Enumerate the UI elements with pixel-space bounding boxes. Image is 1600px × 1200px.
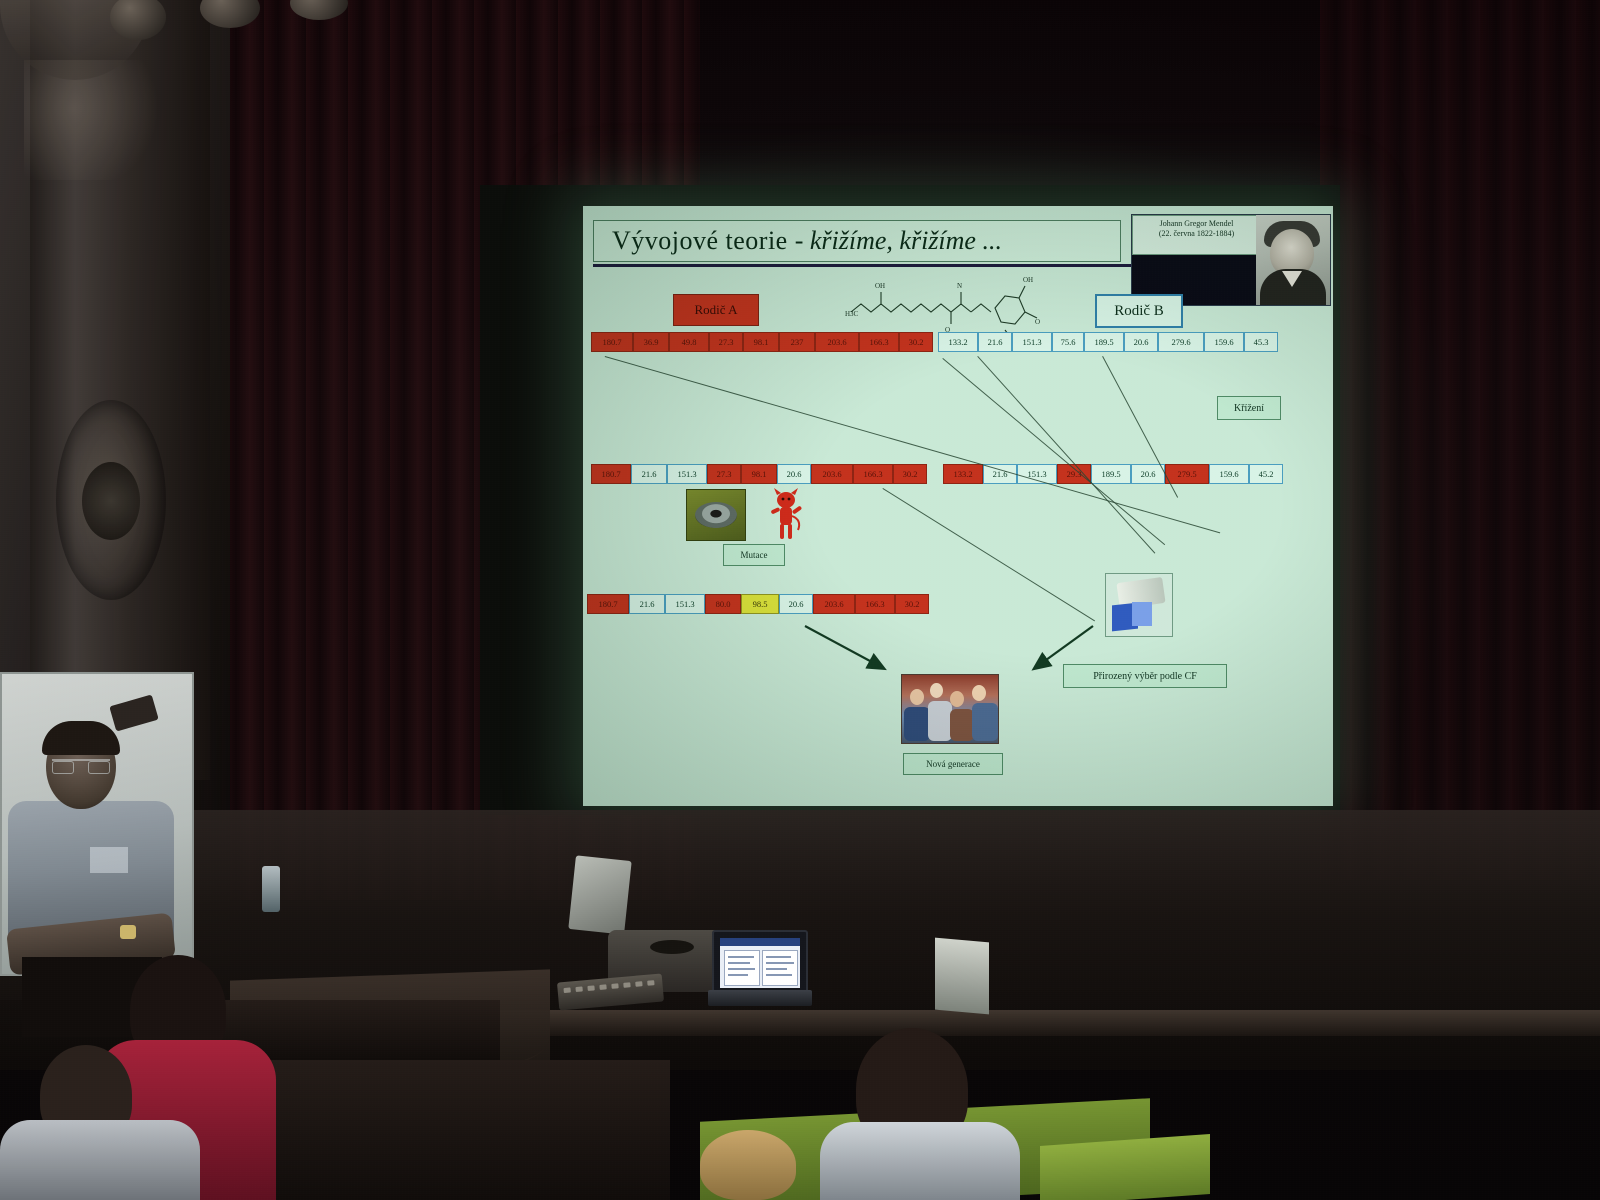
audience-head-blonde [700,1130,796,1200]
chromosome-cell: 189.5 [1091,464,1131,484]
svg-text:N: N [957,282,962,290]
mendel-photo [1256,215,1330,305]
chromosome-cell: 20.6 [779,594,813,614]
chromosome-cell: 151.3 [665,594,705,614]
equipment-crate [935,938,989,1015]
chromosome-cell: 20.6 [777,464,811,484]
water-bottle [262,866,280,912]
label-natural-selection: Přirozený výběr podle CF [1063,664,1227,688]
presenter-glasses [52,759,110,773]
chromosome-row-mutated: 180.721.6151.380.098.520.6203.6166.330.2 [587,594,929,614]
slide-title-italic: křižíme, křižíme ... [810,226,1002,256]
chromosome-cell: 237 [779,332,815,352]
crossing-line-2 [942,358,1165,545]
chromosome-cell: 166.3 [859,332,899,352]
chromosome-cell: 133.2 [943,464,983,484]
label-new-generation: Nová generace [903,753,1003,775]
chromosome-cell: 80.0 [705,594,741,614]
family-body-4 [972,703,998,741]
chromosome-cell: 36.9 [633,332,669,352]
mendel-dates: (22. června 1822-1884) [1138,229,1255,239]
svg-text:H3C: H3C [845,310,859,318]
wall-medallion-ornament [56,400,166,600]
chromosome-cell: 180.7 [591,464,631,484]
chromosome-cell: 75.6 [1052,332,1084,352]
seat-row-front [250,1060,670,1200]
chromosome-cell: 166.3 [855,594,895,614]
chromosome-cell: 166.3 [853,464,893,484]
chromosome-cell: 151.3 [667,464,707,484]
chromosome-cell: 98.5 [741,594,779,614]
presenter-watch [120,925,136,939]
presenter-laptop[interactable] [712,930,810,1008]
chromosome-cell: 203.6 [813,594,855,614]
family-group-photo [901,674,999,744]
chromosome-cell: 151.3 [1012,332,1052,352]
projected-slide: Vývojové teorie - křižíme, křižíme ... J… [583,206,1333,806]
laptop-pane-right [762,950,798,986]
family-head-2 [930,683,943,698]
chromosome-cell: 49.8 [669,332,709,352]
chromosome-cell: 45.2 [1249,464,1283,484]
chromosome-row-parent-b: 133.221.6151.375.6189.520.6279.6159.645.… [938,332,1278,352]
wall-scroll-ornament [24,60,189,180]
chromosome-cell: 133.2 [938,332,978,352]
chromosome-row-parent-a: 180.736.949.827.398.1237203.6166.330.2 [591,332,933,352]
chromosome-row-hybrid-left: 180.721.6151.327.398.120.6203.6166.330.2 [591,464,927,484]
chromosome-cell: 27.3 [707,464,741,484]
chromosome-cell: 189.5 [1084,332,1124,352]
laptop-lid [712,930,808,996]
chromosome-cell: 21.6 [629,594,665,614]
chromosome-cell: 98.1 [741,464,777,484]
chromosome-cell: 159.6 [1209,464,1249,484]
crt-monitor [568,855,631,934]
slide-title: Vývojové teorie - křižíme, křižíme ... [593,220,1121,262]
photo-scene: Vývojové teorie - křižíme, křižíme ... J… [0,0,1600,1200]
chromosome-cell: 21.6 [631,464,667,484]
chromosome-cell: 159.6 [1204,332,1244,352]
radiation-source-photo [686,489,746,541]
label-mutation: Mutace [723,544,785,566]
radiation-disc [695,502,737,528]
chromosome-cell: 27.3 [709,332,743,352]
family-head-1 [910,689,924,705]
audience-body-white [820,1122,1020,1200]
chromosome-cell: 30.2 [895,594,929,614]
family-head-4 [972,685,986,701]
chromosome-cell: 30.2 [893,464,927,484]
svg-text:OH: OH [1023,276,1033,284]
label-crossing: Křížení [1217,396,1281,420]
chromosome-cell: 279.5 [1165,464,1209,484]
family-body-2 [928,701,952,741]
console-handle [650,940,694,954]
chromosome-cell: 180.7 [591,332,633,352]
chromosome-cell: 279.6 [1158,332,1204,352]
family-head-3 [950,691,964,707]
parent-b-label: Rodič B [1095,294,1183,328]
audience-body-grey [0,1120,200,1200]
family-body-3 [950,709,974,741]
crossing-line-3 [977,356,1155,554]
laptop-pane-left [724,950,760,986]
svg-text:O: O [1035,318,1040,326]
chromosome-cell: 98.1 [743,332,779,352]
presenter-badge [90,847,128,873]
family-body-1 [904,707,930,741]
laptop-window-titlebar [720,938,800,946]
chromosome-cell: 180.7 [587,594,629,614]
presenter-hair [42,721,120,755]
chromosome-cell: 20.6 [1124,332,1158,352]
red-devil-cartoon [768,488,804,542]
mendel-name: Johann Gregor Mendel [1138,219,1255,229]
chromosome-cell: 203.6 [815,332,859,352]
parent-a-label: Rodič A [673,294,759,326]
stage-curtain-right [1320,0,1600,880]
chromosome-cell: 21.6 [978,332,1012,352]
toolbox-photo [1105,573,1173,637]
laptop-base [708,990,812,1006]
chromosome-cell: 30.2 [899,332,933,352]
chromosome-cell: 203.6 [811,464,853,484]
svg-text:OH: OH [875,282,885,290]
mendel-caption: Johann Gregor Mendel (22. června 1822-18… [1132,215,1260,255]
laptop-screen[interactable] [720,938,800,988]
mendel-portrait-card: Johann Gregor Mendel (22. června 1822-18… [1131,214,1331,306]
slide-title-plain: Vývojové teorie - [612,226,804,256]
toolbox-lid-shape [1132,602,1152,626]
chromosome-cell: 45.3 [1244,332,1278,352]
audience-table-right [1040,1134,1210,1200]
